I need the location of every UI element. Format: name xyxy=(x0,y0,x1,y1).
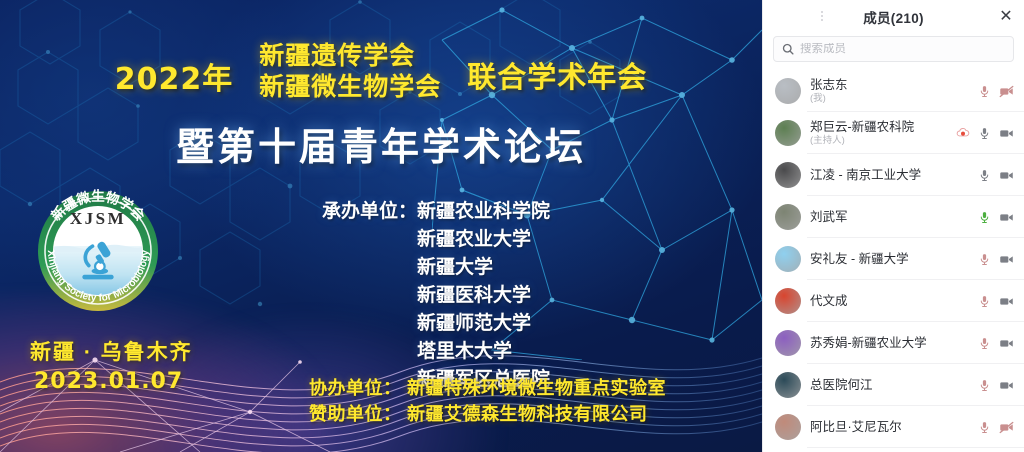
participant-name: 郑巨云-新疆农科院 xyxy=(810,120,946,134)
participant-info: 郑巨云-新疆农科院 (主持人) xyxy=(810,120,946,147)
participant-name: 苏秀娟-新疆农业大学 xyxy=(810,336,968,350)
participant-controls[interactable] xyxy=(977,378,1014,393)
organizer-item-5: 塔里木大学 xyxy=(417,338,550,366)
avatar xyxy=(775,246,801,272)
participant-row[interactable]: 代文成 xyxy=(763,280,1024,322)
society-name-1: 新疆遗传学会 xyxy=(259,42,441,72)
organizers-block: 承办单位： 新疆农业科学院 新疆农业大学 新疆大学 新疆医科大学 新疆师范大学 … xyxy=(322,198,550,393)
participant-role: (主持人) xyxy=(810,136,946,147)
mic-icon xyxy=(978,169,991,182)
mic-icon xyxy=(978,421,991,434)
mic-toggle[interactable] xyxy=(977,336,992,351)
participant-controls[interactable] xyxy=(977,336,1014,351)
camera-icon xyxy=(999,168,1014,183)
slide-location: 新疆 · 乌鲁木齐 xyxy=(30,336,193,366)
camera-toggle[interactable] xyxy=(999,294,1014,309)
avatar xyxy=(775,120,801,146)
participant-row[interactable]: 刘武军 xyxy=(763,196,1024,238)
avatar xyxy=(775,372,801,398)
camera-icon xyxy=(999,126,1014,141)
mic-icon xyxy=(978,85,991,98)
camera-toggle[interactable] xyxy=(999,84,1014,99)
participant-row[interactable]: 江凌 - 南京工业大学 xyxy=(763,154,1024,196)
camera-toggle[interactable] xyxy=(999,252,1014,267)
camera-icon xyxy=(999,294,1014,309)
organizer-label: 承办单位： xyxy=(322,198,417,226)
participant-controls[interactable] xyxy=(955,126,1014,141)
avatar xyxy=(775,288,801,314)
mic-toggle[interactable] xyxy=(977,126,992,141)
mic-toggle[interactable] xyxy=(977,210,992,225)
camera-icon xyxy=(999,336,1014,351)
participant-controls[interactable] xyxy=(977,420,1014,435)
sponsor-line: 赞助单位： 新疆艾德森生物科技有限公司 xyxy=(309,402,666,428)
camera-toggle[interactable] xyxy=(999,210,1014,225)
avatar xyxy=(775,162,801,188)
camera-icon xyxy=(999,378,1014,393)
participant-name: 张志东 xyxy=(810,78,968,92)
participant-row[interactable]: 阿比旦·艾尼瓦尔 xyxy=(763,406,1024,448)
organizer-item-3: 新疆医科大学 xyxy=(417,282,550,310)
participant-row[interactable]: 总医院何江 xyxy=(763,364,1024,406)
mic-icon xyxy=(978,211,991,224)
camera-icon xyxy=(999,84,1014,99)
mic-toggle[interactable] xyxy=(977,84,992,99)
participants-list[interactable]: 张志东 (我) 郑巨云-新疆农科院 (主持人) xyxy=(763,70,1024,452)
meeting-screen: 2022年 新疆遗传学会 新疆微生物学会 联合学术年会 暨第十届青年学术论坛 xyxy=(0,0,1024,452)
participant-row[interactable]: 苏秀娟-新疆农业大学 xyxy=(763,322,1024,364)
participant-controls[interactable] xyxy=(977,294,1014,309)
participant-role: (我) xyxy=(810,94,968,105)
organizer-item-1: 新疆农业大学 xyxy=(417,226,550,254)
avatar xyxy=(775,330,801,356)
recording-icon xyxy=(956,126,970,140)
participant-controls[interactable] xyxy=(977,168,1014,183)
panel-header: 成员(210) ✕ xyxy=(763,0,1024,34)
mic-toggle[interactable] xyxy=(977,252,992,267)
organizer-item-0: 新疆农业科学院 xyxy=(417,198,550,226)
mic-toggle[interactable] xyxy=(977,168,992,183)
slide-societies: 新疆遗传学会 新疆微生物学会 xyxy=(259,42,441,102)
slide-year: 2022年 xyxy=(115,54,234,98)
participant-row[interactable]: 安礼友 - 新疆大学 xyxy=(763,238,1024,280)
participant-row[interactable]: 张志东 (我) xyxy=(763,70,1024,112)
camera-toggle[interactable] xyxy=(999,126,1014,141)
participant-name: 阿比旦·艾尼瓦尔 xyxy=(810,420,968,434)
camera-icon xyxy=(999,420,1014,435)
avatar xyxy=(775,78,801,104)
mic-icon xyxy=(978,379,991,392)
drag-handle-icon[interactable] xyxy=(821,11,823,21)
camera-icon xyxy=(999,252,1014,267)
mic-toggle[interactable] xyxy=(977,294,992,309)
panel-title: 成员(210) xyxy=(773,7,1014,27)
participant-name: 总医院何江 xyxy=(810,378,968,392)
recording-badge xyxy=(955,126,970,141)
participant-info: 代文成 xyxy=(810,294,968,308)
participant-info: 江凌 - 南京工业大学 xyxy=(810,168,968,182)
cosponsor-line: 协办单位： 新疆特殊环境微生物重点实验室 xyxy=(309,376,666,402)
mic-icon xyxy=(978,337,991,350)
participant-info: 刘武军 xyxy=(810,210,968,224)
avatar xyxy=(775,204,801,230)
camera-toggle[interactable] xyxy=(999,378,1014,393)
mic-toggle[interactable] xyxy=(977,420,992,435)
camera-icon xyxy=(999,210,1014,225)
camera-toggle[interactable] xyxy=(999,420,1014,435)
participant-info: 安礼友 - 新疆大学 xyxy=(810,252,968,266)
search-input[interactable] xyxy=(800,43,1005,55)
society-name-2: 新疆微生物学会 xyxy=(259,73,441,103)
emblem-acronym: XJSM xyxy=(70,209,126,228)
participant-name: 安礼友 - 新疆大学 xyxy=(810,252,968,266)
camera-toggle[interactable] xyxy=(999,168,1014,183)
organizer-item-2: 新疆大学 xyxy=(417,254,550,282)
participant-info: 阿比旦·艾尼瓦尔 xyxy=(810,420,968,434)
mic-icon xyxy=(978,127,991,140)
participant-controls[interactable] xyxy=(977,252,1014,267)
shared-presentation-slide[interactable]: 2022年 新疆遗传学会 新疆微生物学会 联合学术年会 暨第十届青年学术论坛 xyxy=(0,0,762,452)
mic-icon xyxy=(978,295,991,308)
participant-info: 总医院何江 xyxy=(810,378,968,392)
participant-controls[interactable] xyxy=(977,84,1014,99)
search-container xyxy=(763,34,1024,70)
search-box[interactable] xyxy=(773,36,1014,62)
search-icon xyxy=(782,43,794,55)
sponsors-block: 协办单位： 新疆特殊环境微生物重点实验室 赞助单位： 新疆艾德森生物科技有限公司 xyxy=(309,376,666,427)
avatar xyxy=(775,414,801,440)
participant-info: 苏秀娟-新疆农业大学 xyxy=(810,336,968,350)
camera-toggle[interactable] xyxy=(999,336,1014,351)
participant-controls[interactable] xyxy=(977,210,1014,225)
society-emblem-logo: XJSM 新疆微生物学会 Xinjiang Society for Microb… xyxy=(22,186,174,320)
participant-name: 江凌 - 南京工业大学 xyxy=(810,168,968,182)
mic-toggle[interactable] xyxy=(977,378,992,393)
participant-name: 代文成 xyxy=(810,294,968,308)
close-icon[interactable]: ✕ xyxy=(996,7,1016,27)
slide-joint-title: 联合学术年会 xyxy=(467,54,647,96)
slide-headline: 2022年 新疆遗传学会 新疆微生物学会 联合学术年会 xyxy=(0,40,762,102)
participant-info: 张志东 (我) xyxy=(810,78,968,105)
slide-subtitle: 暨第十届青年学术论坛 xyxy=(0,116,762,171)
participant-name: 刘武军 xyxy=(810,210,968,224)
organizer-item-4: 新疆师范大学 xyxy=(417,310,550,338)
participant-row[interactable]: 郑巨云-新疆农科院 (主持人) xyxy=(763,112,1024,154)
participants-panel: 成员(210) ✕ 张志东 (我) xyxy=(762,0,1024,452)
slide-date: 2023.01.07 xyxy=(34,369,183,394)
mic-icon xyxy=(978,253,991,266)
